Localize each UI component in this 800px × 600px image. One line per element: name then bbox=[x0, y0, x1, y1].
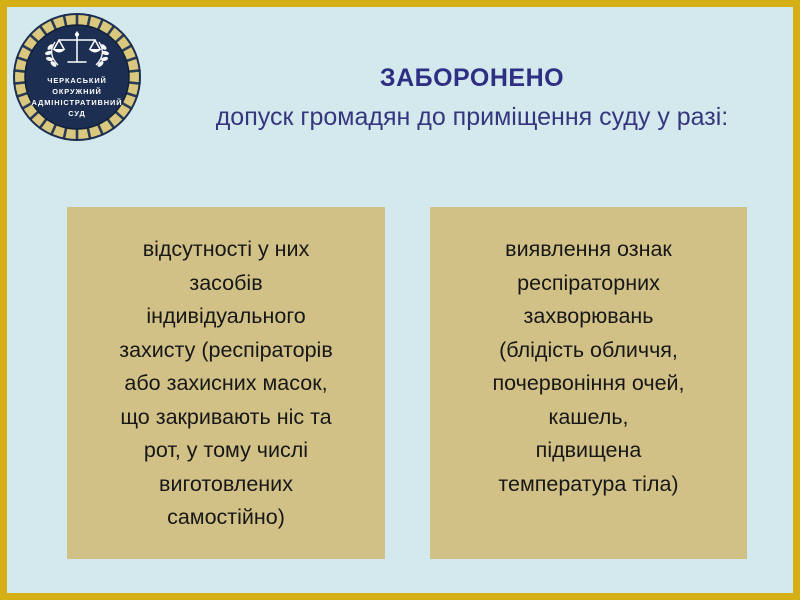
seal-text-line-2: ОКРУЖНИЙ bbox=[52, 87, 102, 96]
court-seal-logo: ЧЕРКАСЬКИЙ ОКРУЖНИЙ АДМІНІСТРАТИВНИЙ СУД bbox=[10, 10, 144, 144]
seal-text-line-1: ЧЕРКАСЬКИЙ bbox=[47, 76, 107, 85]
header-block: ЗАБОРОНЕНО допуск громадян до приміщення… bbox=[147, 63, 797, 133]
page-subtitle: допуск громадян до приміщення суду у раз… bbox=[147, 101, 797, 133]
condition-panel-right: виявлення ознак респіраторних захворюван… bbox=[430, 207, 747, 559]
page-title: ЗАБОРОНЕНО bbox=[147, 63, 797, 93]
condition-panel-left: відсутності у них засобів індивідуальног… bbox=[67, 207, 385, 559]
slide-canvas: ЧЕРКАСЬКИЙ ОКРУЖНИЙ АДМІНІСТРАТИВНИЙ СУД… bbox=[0, 0, 800, 600]
condition-panel-right-text: виявлення ознак респіраторних захворюван… bbox=[440, 233, 737, 501]
condition-panel-left-text: відсутності у них засобів індивідуальног… bbox=[77, 233, 375, 535]
seal-text-line-4: СУД bbox=[68, 109, 85, 118]
seal-text-line-3: АДМІНІСТРАТИВНИЙ bbox=[32, 98, 123, 107]
